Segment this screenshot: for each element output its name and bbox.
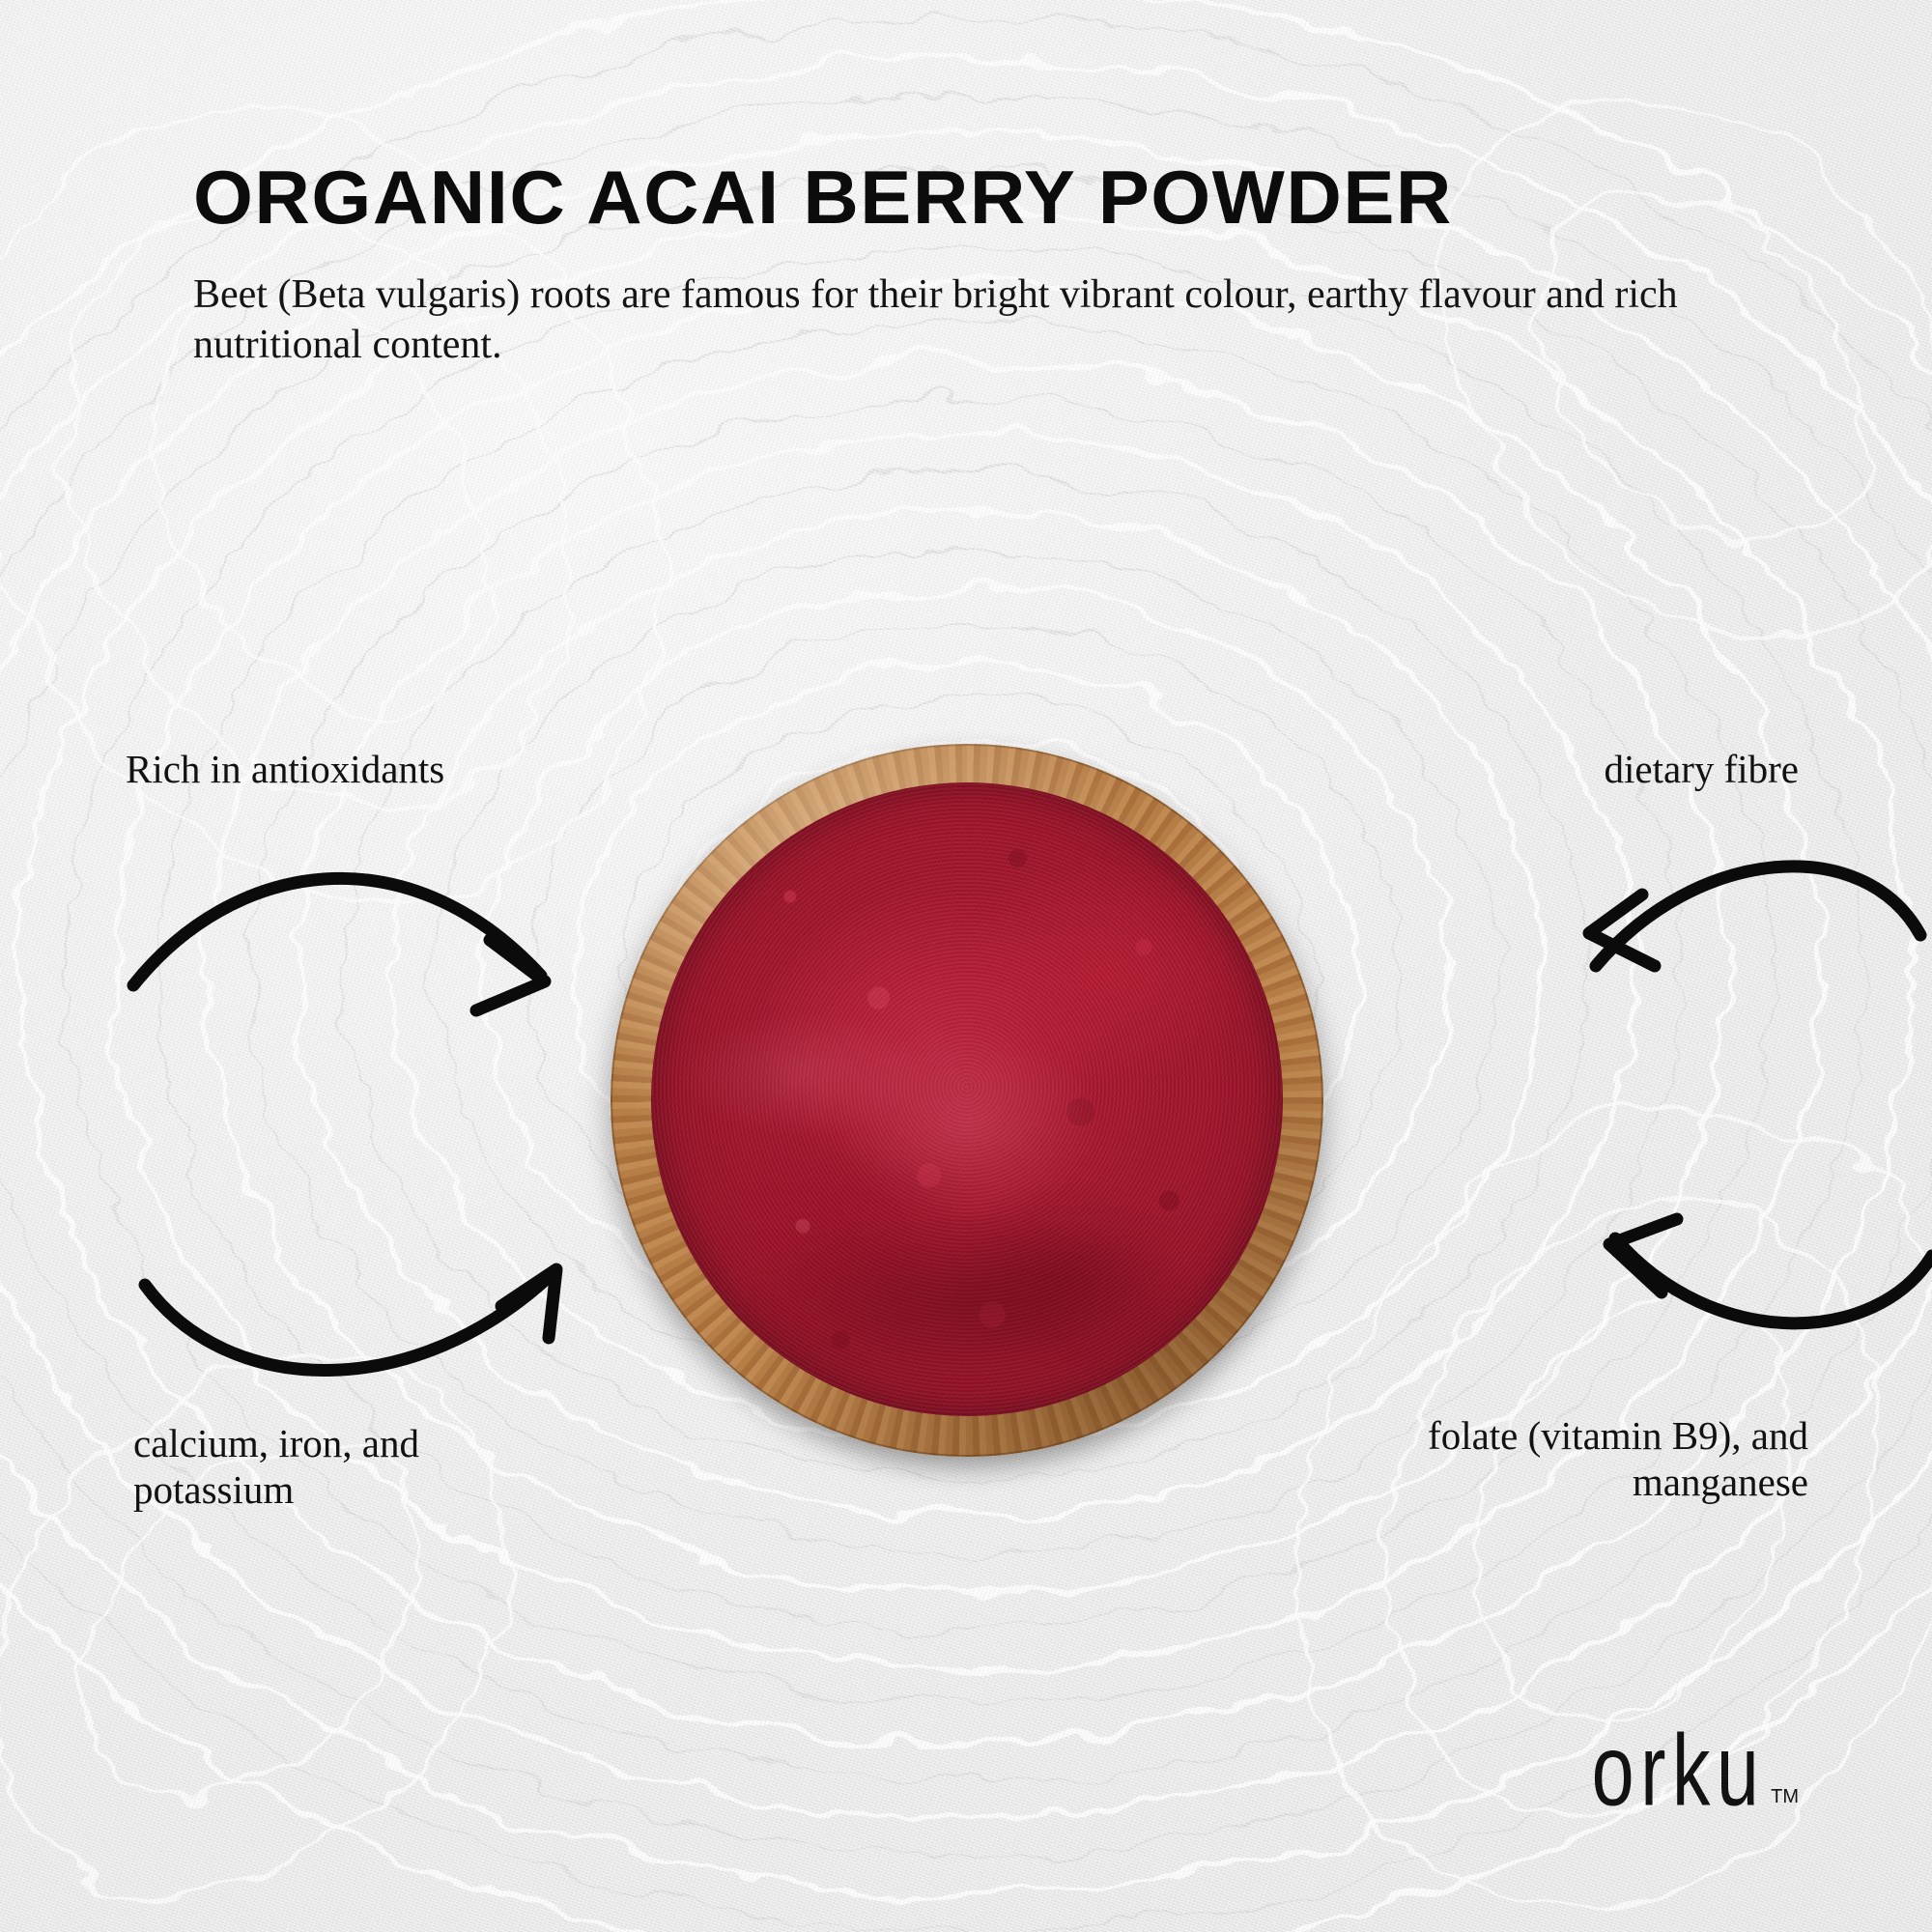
callout-label-top-left: Rich in antioxidants bbox=[126, 746, 628, 792]
trademark-symbol: TM bbox=[1771, 1786, 1799, 1808]
product-bowl-image bbox=[611, 744, 1323, 1457]
page-title: ORGANIC ACAI BERRY POWDER bbox=[193, 159, 1809, 235]
page-subtitle: Beet (Beta vulgaris) roots are famous fo… bbox=[193, 270, 1739, 370]
header: ORGANIC ACAI BERRY POWDER Beet (Beta vul… bbox=[193, 159, 1777, 370]
callout-label-bottom-right: folate (vitamin B9), and manganese bbox=[1267, 1412, 1808, 1506]
callout-label-top-right: dietary fibre bbox=[1296, 746, 1799, 792]
powder-mound-shading bbox=[651, 782, 1283, 1416]
acai-powder-fill bbox=[651, 782, 1283, 1416]
brand-logo-wordmark: orku bbox=[1591, 1724, 1765, 1818]
brand-logo[interactable]: orku TM bbox=[1577, 1742, 1799, 1818]
callout-label-bottom-left: calcium, iron, and potassium bbox=[133, 1420, 578, 1514]
infographic-poster: ORGANIC ACAI BERRY POWDER Beet (Beta vul… bbox=[0, 0, 1932, 1932]
